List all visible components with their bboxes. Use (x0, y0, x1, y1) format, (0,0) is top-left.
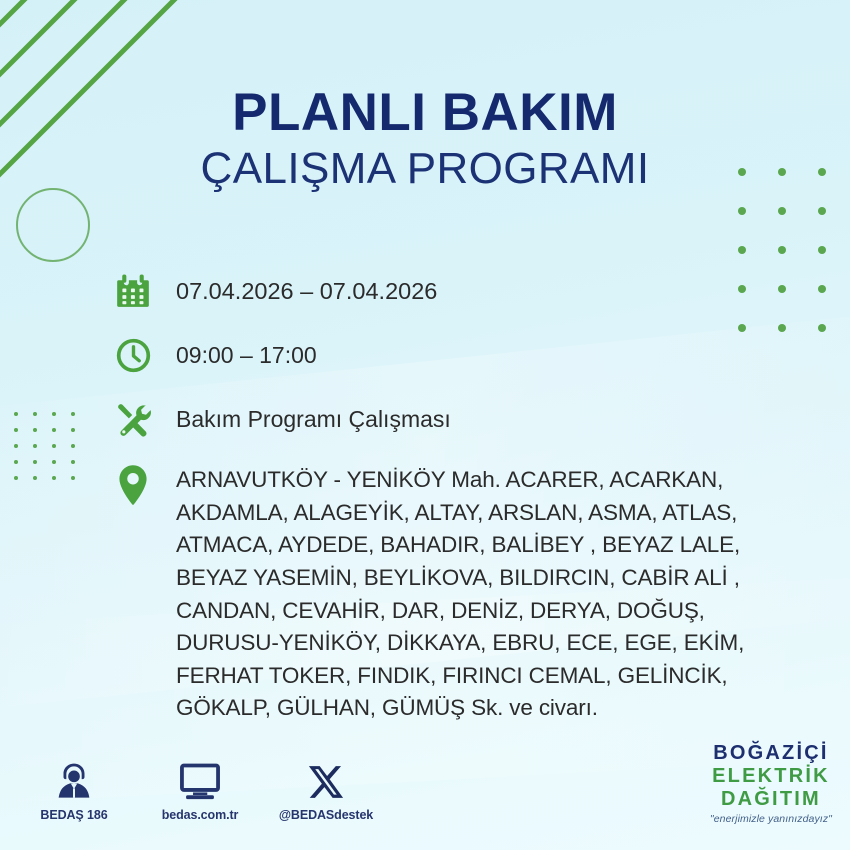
contact-label-social: @BEDASdestek (276, 808, 376, 822)
calendar-icon (110, 268, 156, 314)
decorative-dot (52, 428, 56, 432)
contact-item-social[interactable]: @BEDASdestek (276, 759, 376, 822)
decorative-dot (818, 246, 826, 254)
decorative-dot (71, 444, 75, 448)
brand-line-dagitim: DAĞITIM (710, 789, 832, 809)
location-line: BEYAZ YASEMİN, BEYLİKOVA, BILDIRCIN, CAB… (176, 565, 740, 590)
contact-item-website[interactable]: bedas.com.tr (150, 759, 250, 822)
footer: BEDAŞ 186 bedas.com.tr (0, 740, 850, 832)
brand-logo: BOĞAZİÇİ ELEKTRİK DAĞITIM "enerjimizle y… (710, 743, 832, 825)
brand-line-elektrik: ELEKTRİK (710, 766, 832, 786)
decorative-dot (738, 207, 746, 215)
decorative-dot (71, 412, 75, 416)
headset-agent-icon (24, 759, 124, 801)
decorative-dot (71, 428, 75, 432)
location-text: ARNAVUTKÖY - YENİKÖY Mah. ACARER, ACARKA… (156, 460, 810, 725)
contact-label-website: bedas.com.tr (150, 808, 250, 822)
decorative-dot (818, 285, 826, 293)
tools-icon (110, 396, 156, 442)
work-type-text: Bakım Programı Çalışması (156, 396, 451, 435)
info-list: 07.04.2026 – 07.04.2026 09:00 – 17:00 (110, 268, 810, 725)
decorative-dot (52, 444, 56, 448)
decorative-dot (33, 428, 37, 432)
decorative-dot (52, 412, 56, 416)
map-pin-icon (110, 460, 156, 508)
decorative-dot (778, 207, 786, 215)
decorative-dot (14, 412, 18, 416)
info-row-work-type: Bakım Programı Çalışması (110, 396, 810, 442)
decorative-dot (52, 476, 56, 480)
brand-tagline: "enerjimizle yanınızdayız" (710, 814, 832, 825)
info-row-location: ARNAVUTKÖY - YENİKÖY Mah. ACARER, ACARKA… (110, 460, 810, 725)
decorative-dot (14, 476, 18, 480)
page-subtitle: ÇALIŞMA PROGRAMI (0, 144, 850, 193)
brand-line-bogazici: BOĞAZİÇİ (710, 743, 832, 763)
decorative-dot (778, 246, 786, 254)
monitor-icon (150, 759, 250, 801)
dot-grid-left-decoration (14, 412, 92, 484)
location-line: FERHAT TOKER, FINDIK, FIRINCI CEMAL, GEL… (176, 663, 728, 688)
decorative-dot (52, 460, 56, 464)
decorative-dot (33, 412, 37, 416)
location-line: CANDAN, CEVAHİR, DAR, DENİZ, DERYA, DOĞU… (176, 598, 705, 623)
decorative-dot (71, 460, 75, 464)
title-block: PLANLI BAKIM ÇALIŞMA PROGRAMI (0, 86, 850, 193)
contact-label-phone: BEDAŞ 186 (24, 808, 124, 822)
time-range-text: 09:00 – 17:00 (156, 332, 317, 371)
poster-canvas: PLANLI BAKIM ÇALIŞMA PROGRAMI (0, 0, 850, 850)
date-range-text: 07.04.2026 – 07.04.2026 (156, 268, 437, 307)
decorative-dot (14, 428, 18, 432)
contact-group: BEDAŞ 186 bedas.com.tr (24, 759, 376, 822)
circle-outline-decoration (16, 188, 90, 262)
contact-item-phone[interactable]: BEDAŞ 186 (24, 759, 124, 822)
page-title: PLANLI BAKIM (0, 86, 850, 140)
decorative-dot (738, 246, 746, 254)
clock-icon (110, 332, 156, 378)
decorative-dot (33, 444, 37, 448)
location-line: AKDAMLA, ALAGEYİK, ALTAY, ARSLAN, ASMA, … (176, 500, 737, 525)
decorative-dot (818, 324, 826, 332)
info-row-date: 07.04.2026 – 07.04.2026 (110, 268, 810, 314)
location-line: ATMACA, AYDEDE, BAHADIR, BALİBEY , BEYAZ… (176, 532, 740, 557)
x-twitter-icon (276, 759, 376, 801)
decorative-dot (33, 460, 37, 464)
decorative-dot (14, 444, 18, 448)
decorative-dot (818, 207, 826, 215)
decorative-dot (33, 476, 37, 480)
location-line: GÖKALP, GÜLHAN, GÜMÜŞ Sk. ve civarı. (176, 695, 598, 720)
location-line: ARNAVUTKÖY - YENİKÖY Mah. ACARER, ACARKA… (176, 467, 723, 492)
location-line: DURUSU-YENİKÖY, DİKKAYA, EBRU, ECE, EGE,… (176, 630, 744, 655)
decorative-dot (14, 460, 18, 464)
decorative-dot (71, 476, 75, 480)
info-row-time: 09:00 – 17:00 (110, 332, 810, 378)
